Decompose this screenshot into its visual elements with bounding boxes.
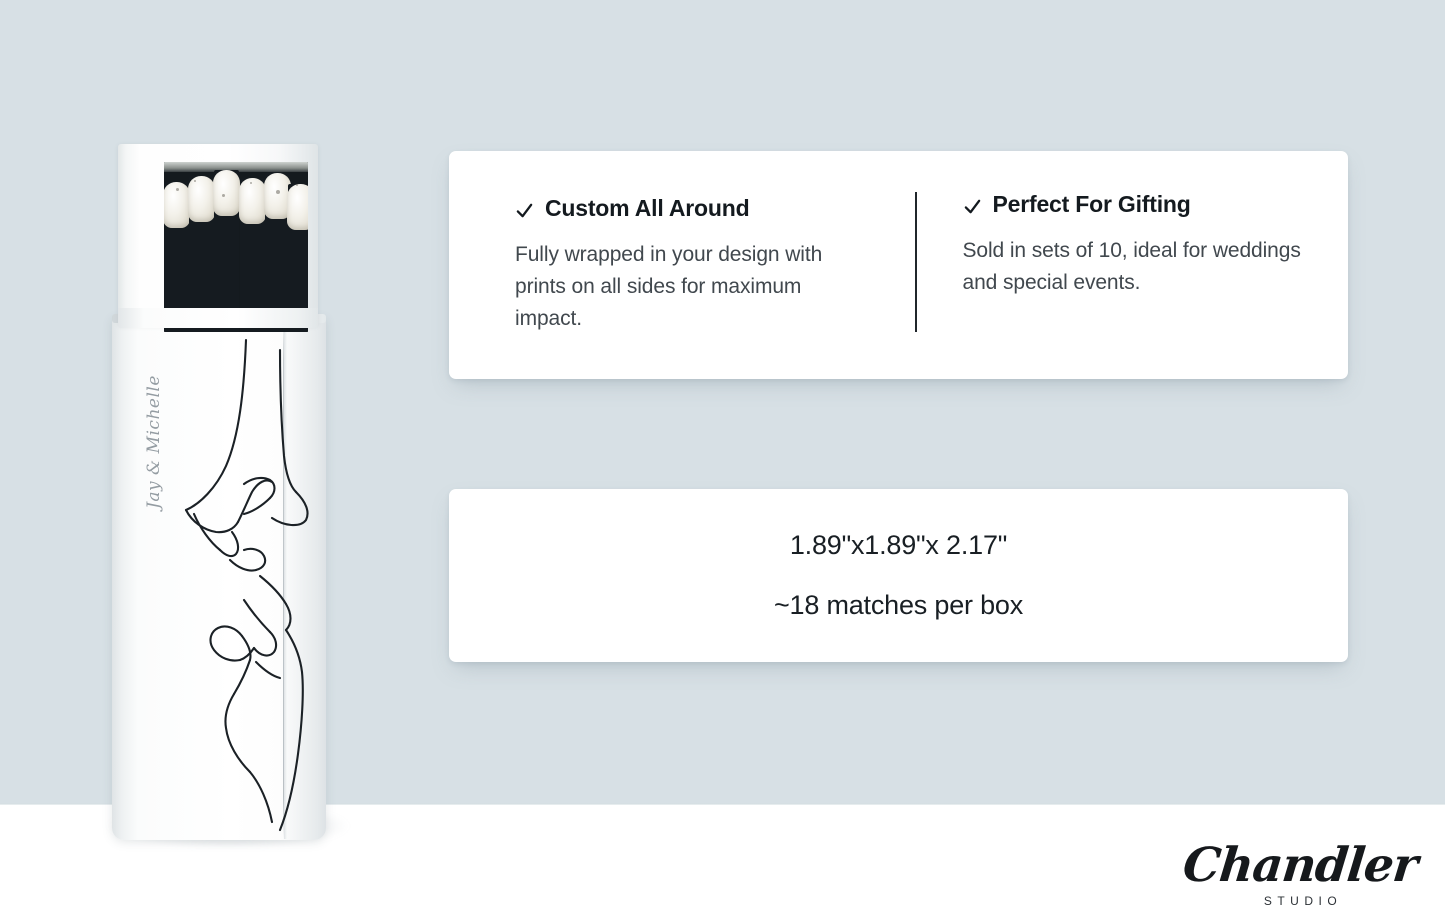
- check-icon: [963, 195, 982, 214]
- matchbox-personalized-name: Jay & Michelle: [144, 352, 164, 532]
- feature-perfect-for-gifting: Perfect For Gifting Sold in sets of 10, …: [901, 151, 1349, 379]
- matchbox-tray-front: [118, 308, 318, 328]
- feature-title: Perfect For Gifting: [993, 191, 1191, 218]
- brand-logo: Chandler STUDIO: [1180, 842, 1420, 908]
- feature-title-row: Custom All Around: [515, 195, 855, 222]
- dimensions-content: 1.89"x1.89"x 2.17" ~18 matches per box: [449, 489, 1348, 662]
- features-card: Custom All Around Fully wrapped in your …: [449, 151, 1348, 379]
- dimensions-card: 1.89"x1.89"x 2.17" ~18 matches per box: [449, 489, 1348, 662]
- poster-stage: Jay & Michelle: [0, 0, 1445, 918]
- feature-body: Fully wrapped in your design with prints…: [515, 239, 855, 335]
- dimensions-match-count: ~18 matches per box: [774, 590, 1023, 621]
- matchbox-tray: [118, 144, 318, 326]
- feature-title-row: Perfect For Gifting: [963, 191, 1303, 218]
- check-icon: [515, 199, 534, 218]
- product-image-matchbox: Jay & Michelle: [100, 132, 350, 852]
- feature-title: Custom All Around: [545, 195, 749, 222]
- brand-name: Chandler: [1178, 842, 1423, 889]
- matchbox-match-cavity: [164, 162, 308, 332]
- feature-body: Sold in sets of 10, ideal for weddings a…: [963, 235, 1303, 299]
- brand-subtitle: STUDIO: [1180, 894, 1420, 908]
- feature-custom-all-around: Custom All Around Fully wrapped in your …: [449, 151, 901, 379]
- dimensions-size: 1.89"x1.89"x 2.17": [790, 530, 1007, 561]
- features-grid: Custom All Around Fully wrapped in your …: [449, 151, 1348, 379]
